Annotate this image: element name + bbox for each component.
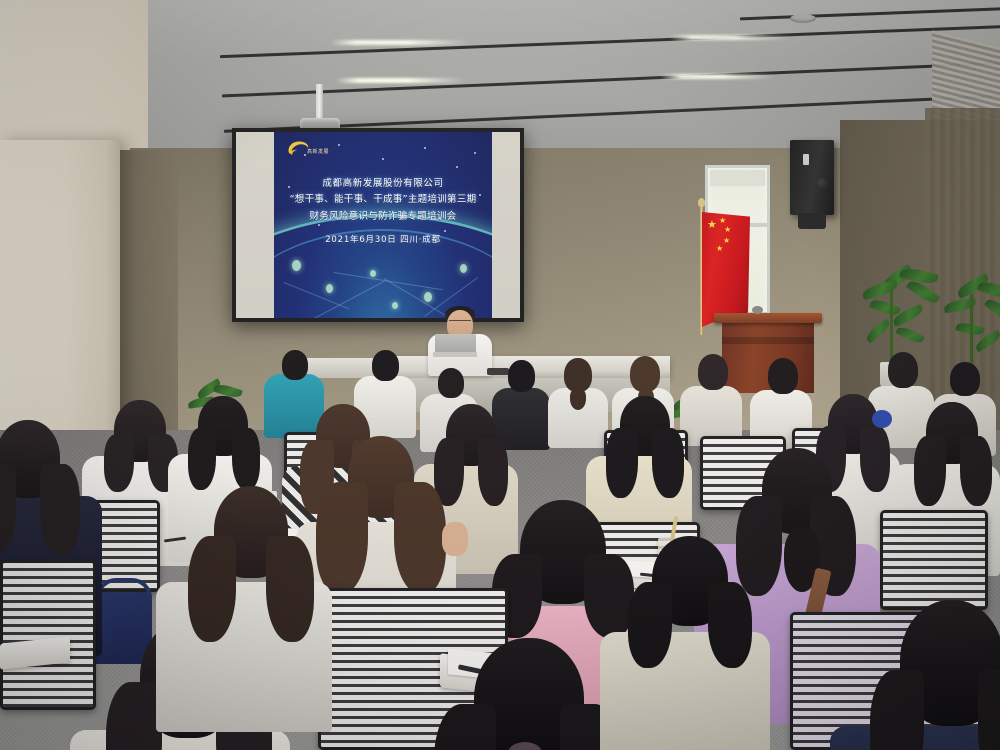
ceiling-groove xyxy=(740,7,1000,21)
window-blind xyxy=(710,170,765,186)
slide-title-line-3: 财务风险意识与防诈骗专题培训会 xyxy=(274,208,492,222)
podium-microphone-icon xyxy=(752,306,763,314)
speaker-cone-icon xyxy=(816,178,828,190)
speaker-bracket xyxy=(798,213,826,229)
national-flag: ★ ★ ★ ★ ★ xyxy=(702,212,750,327)
wall-speaker xyxy=(790,140,834,215)
laptop xyxy=(435,334,476,353)
slide-date-location: 2021年6月30日 四川·成都 xyxy=(274,233,492,245)
slide-title-line-2: “想干事、能干事、干成事”主题培训第三期 xyxy=(274,191,492,205)
desk-microphone-icon xyxy=(487,368,509,375)
presenter-glasses-icon xyxy=(449,320,471,326)
training-chair[interactable] xyxy=(0,560,96,710)
handbag-strap xyxy=(96,578,152,600)
ceiling-light xyxy=(330,40,470,45)
laptop-base xyxy=(433,352,477,357)
screen-surface: 高新发展 成都高新发展股份有限公司 “想干事、能干事、干成事”主题培训第三期 财… xyxy=(236,132,520,318)
presentation-slide: 高新发展 成都高新发展股份有限公司 “想干事、能干事、干成事”主题培训第三期 财… xyxy=(274,132,492,318)
speaker-indicator-icon xyxy=(803,154,809,165)
training-chair[interactable] xyxy=(880,510,988,610)
projection-screen: 高新发展 成都高新发展股份有限公司 “想干事、能干事、干成事”主题培训第三期 财… xyxy=(232,128,524,322)
slide-title-line-1: 成都高新发展股份有限公司 xyxy=(274,175,492,189)
ceiling-left-soffit xyxy=(0,0,148,150)
ceiling-light xyxy=(660,74,775,79)
podium-shelf xyxy=(722,337,814,344)
company-logo-text: 高新发展 xyxy=(307,148,329,155)
training-room-photo: PROJECTOR xyxy=(0,0,1000,750)
podium-top xyxy=(714,313,822,323)
ceiling-light xyxy=(335,78,465,83)
ceiling-smoke-detector-icon xyxy=(790,14,816,23)
flag-finial xyxy=(698,198,705,207)
ceiling-light xyxy=(670,35,790,40)
raised-hand xyxy=(442,522,468,556)
